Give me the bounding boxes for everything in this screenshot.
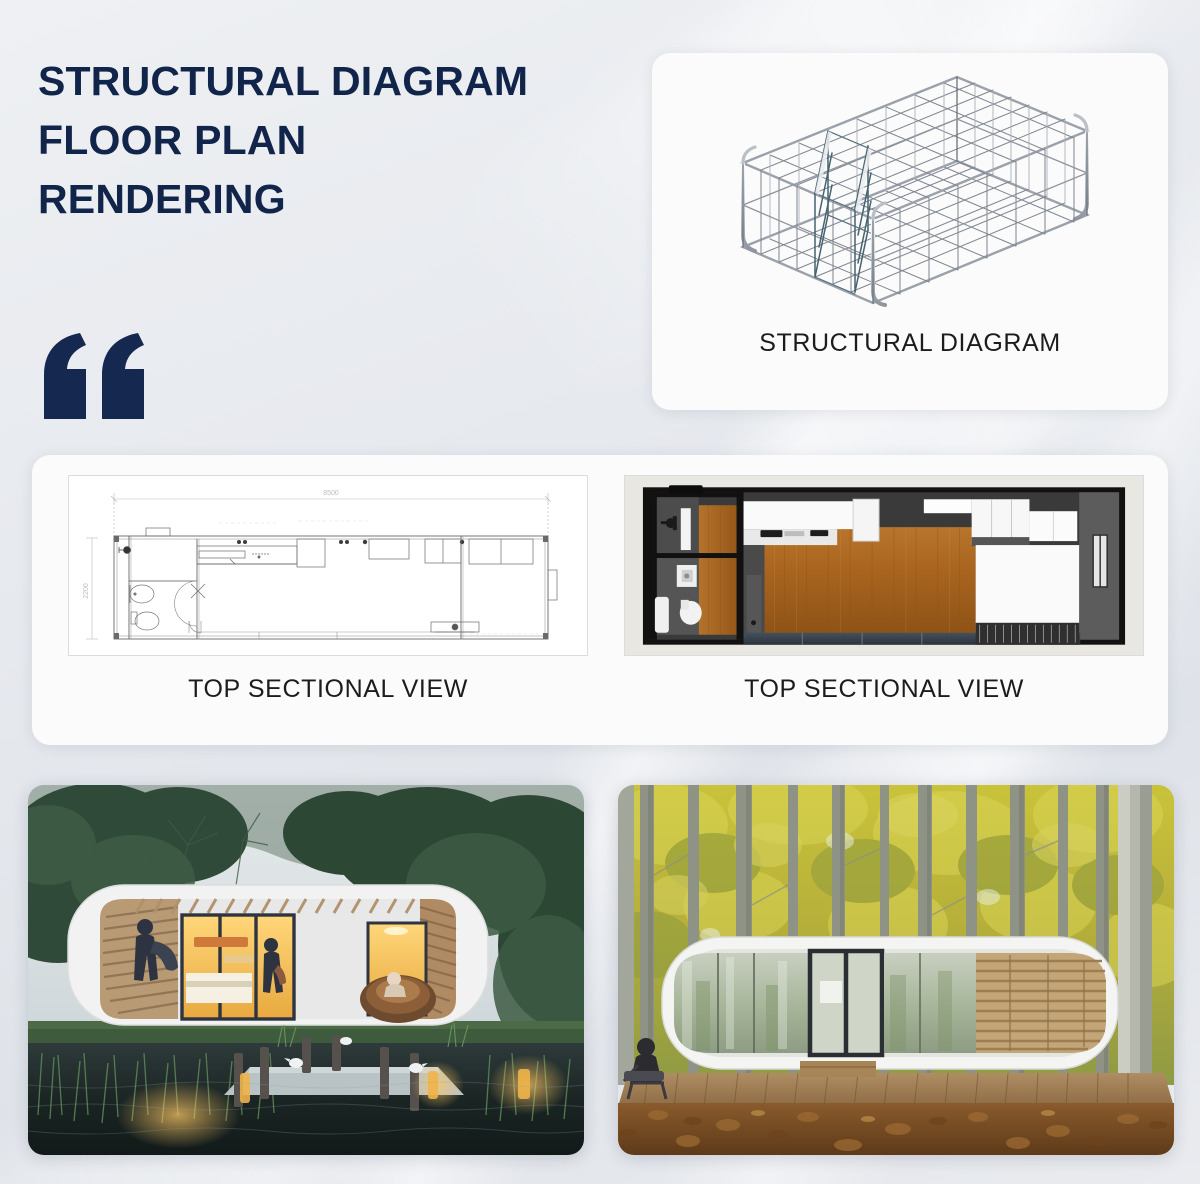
photo-card-lakeside[interactable]: [28, 785, 584, 1155]
capsule-house-autumn-forest-photo-icon: [618, 785, 1174, 1155]
page-title-line-3: RENDERING: [38, 170, 638, 229]
plan-right-caption: TOP SECTIONAL VIEW: [624, 675, 1144, 704]
structural-diagram-caption: STRUCTURAL DIAGRAM: [759, 329, 1061, 358]
page-title-line-1: STRUCTURAL DIAGRAM: [38, 52, 638, 111]
page-title-line-2: FLOOR PLAN: [38, 111, 638, 170]
dimension-length-label: 8500: [323, 490, 339, 497]
steel-frame-wireframe-3d-icon: [695, 65, 1125, 333]
page-root: STRUCTURAL DIAGRAM FLOOR PLAN RENDERING: [0, 0, 1200, 1184]
floor-plan-frame: 8500 2200: [68, 475, 588, 656]
photo-card-forest[interactable]: [618, 785, 1174, 1155]
double-quote-open-icon: [40, 331, 150, 421]
rendered-interior-top-view-icon: [625, 475, 1143, 656]
plan-left-caption: TOP SECTIONAL VIEW: [68, 675, 588, 704]
render-frame: [624, 475, 1144, 656]
plan-right-block[interactable]: TOP SECTIONAL VIEW: [624, 475, 1144, 704]
dimension-width-label: 2200: [83, 583, 90, 599]
plan-left-block[interactable]: 8500 2200: [68, 475, 588, 704]
page-title: STRUCTURAL DIAGRAM FLOOR PLAN RENDERING: [38, 52, 638, 229]
capsule-house-lakeside-dusk-render-icon: [28, 785, 584, 1155]
architectural-floor-plan-linework-icon: 8500 2200: [69, 476, 588, 656]
card-structural-diagram[interactable]: STRUCTURAL DIAGRAM: [652, 53, 1168, 410]
card-top-sectional-views[interactable]: 8500 2200: [32, 455, 1168, 745]
